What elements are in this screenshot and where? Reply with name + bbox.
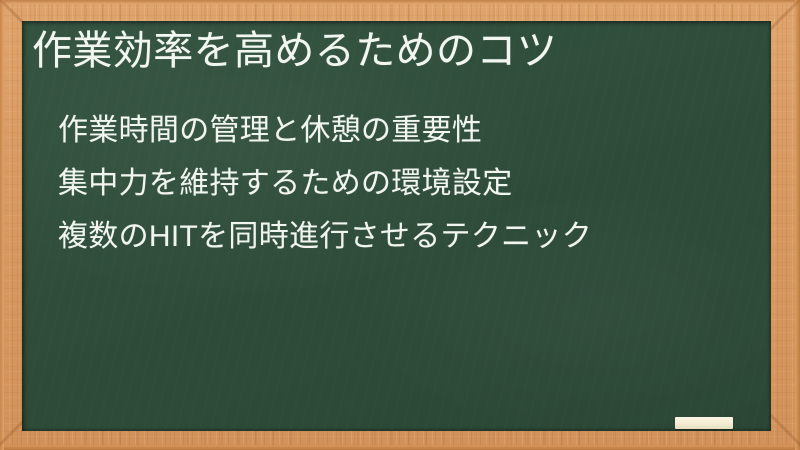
chalk-stick: [675, 417, 733, 429]
frame-edge-left: [0, 0, 4, 450]
slide-title: 作業効率を高めるためのコツ: [32, 29, 752, 74]
chalkboard-surface: 作業効率を高めるためのコツ 作業時間の管理と休憩の重要性 集中力を維持するための…: [22, 21, 771, 431]
frame-edge-top: [0, 0, 800, 4]
bullet-item: 集中力を維持するための環境設定: [58, 157, 758, 210]
chalkboard-slide: 作業効率を高めるためのコツ 作業時間の管理と休憩の重要性 集中力を維持するための…: [0, 0, 800, 450]
bullet-item: 作業時間の管理と休憩の重要性: [58, 104, 758, 157]
frame-edge-right: [795, 0, 800, 450]
bullet-item: 複数のHITを同時進行させるテクニック: [58, 210, 758, 263]
frame-edge-bottom: [0, 445, 800, 450]
bullet-list: 作業時間の管理と休憩の重要性 集中力を維持するための環境設定 複数のHITを同時…: [58, 104, 758, 263]
